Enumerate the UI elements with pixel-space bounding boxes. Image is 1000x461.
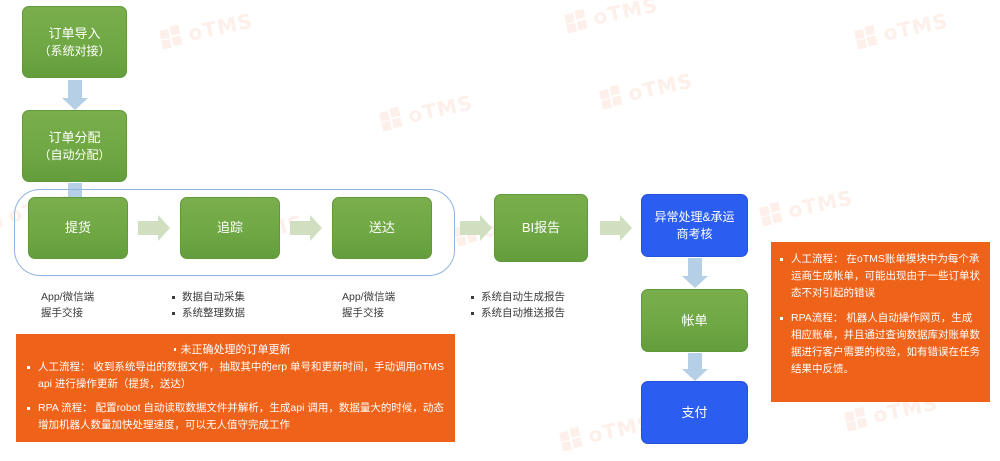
watermark: oTMS bbox=[599, 69, 696, 112]
node-bi-report[interactable]: BI报告 bbox=[494, 194, 588, 262]
callout-order-update-item-1: RPA 流程： 配置robot 自动读取数据文件并解析，生成api 调用，数据量… bbox=[26, 400, 445, 434]
node-delivery[interactable]: 送达 bbox=[332, 197, 432, 259]
node-tracking[interactable]: 追踪 bbox=[180, 197, 280, 259]
node-bi-report-label: BI报告 bbox=[522, 219, 560, 237]
flowchart-canvas: oTMS oTMS oTMS oTMS oTMS oTMS oTMS oTMS … bbox=[0, 0, 1000, 461]
otms-pinwheel-logo-icon bbox=[379, 106, 405, 132]
watermark: oTMS bbox=[564, 0, 661, 35]
otms-pinwheel-logo-icon bbox=[844, 406, 870, 432]
node-order-assign-line1: 订单分配 bbox=[38, 129, 110, 147]
otms-pinwheel-logo-icon bbox=[854, 24, 880, 50]
arrow-tracking-to-delivery bbox=[290, 212, 322, 244]
notes-pickup-line-0: App/微信端 bbox=[41, 289, 94, 305]
notes-tracking: 数据自动采集 系统整理数据 bbox=[171, 289, 245, 322]
notes-tracking-line-1: 系统整理数据 bbox=[171, 305, 245, 321]
otms-pinwheel-logo-icon bbox=[0, 206, 5, 232]
node-payment-label: 支付 bbox=[681, 404, 707, 422]
callout-billing-item-1: RPA流程： 机器人自动操作网页，生成相应账单，并且通过查询数据库对账单数据进行… bbox=[779, 310, 980, 377]
node-order-assign[interactable]: 订单分配 （自动分配） bbox=[22, 110, 127, 182]
arrow-report-to-exception bbox=[600, 212, 632, 244]
callout-order-update-item-0: 人工流程： 收到系统导出的数据文件，抽取其中的erp 单号和更新时间，手动调用o… bbox=[26, 359, 445, 393]
node-order-import[interactable]: 订单导入 （系统对接） bbox=[22, 6, 127, 78]
node-tracking-label: 追踪 bbox=[217, 219, 243, 237]
watermark-label: oTMS bbox=[591, 0, 660, 30]
notes-tracking-line-0: 数据自动采集 bbox=[171, 289, 245, 305]
arrow-bill-to-payment bbox=[680, 353, 710, 381]
notes-report-line-0: 系统自动生成报告 bbox=[470, 289, 565, 305]
watermark: oTMS bbox=[854, 9, 951, 52]
node-exception-line1: 异常处理&承运 bbox=[654, 209, 734, 225]
callout-order-update-header: 未正确处理的订单更新 bbox=[26, 341, 445, 359]
watermark-label: oTMS bbox=[786, 186, 855, 223]
otms-pinwheel-logo-icon bbox=[599, 84, 625, 110]
watermark: oTMS bbox=[159, 9, 256, 52]
notes-report-line-1: 系统自动推送报告 bbox=[470, 305, 565, 321]
node-payment[interactable]: 支付 bbox=[641, 381, 748, 444]
callout-order-update-list: 人工流程： 收到系统导出的数据文件，抽取其中的erp 单号和更新时间，手动调用o… bbox=[26, 359, 445, 434]
watermark-label: oTMS bbox=[881, 9, 950, 46]
callout-billing-item-0: 人工流程： 在oTMS账单模块中为每个承运商生成帐单，可能出现由于一些订单状态不… bbox=[779, 251, 980, 301]
node-order-import-line1: 订单导入 bbox=[38, 25, 110, 43]
watermark: oTMS bbox=[379, 91, 476, 134]
notes-report: 系统自动生成报告 系统自动推送报告 bbox=[470, 289, 565, 322]
callout-billing-list: 人工流程： 在oTMS账单模块中为每个承运商生成帐单，可能出现由于一些订单状态不… bbox=[779, 251, 980, 378]
watermark-label: oTMS bbox=[186, 9, 255, 46]
otms-pinwheel-logo-icon bbox=[564, 8, 590, 34]
node-bill[interactable]: 帐单 bbox=[641, 289, 748, 352]
watermark: oTMS bbox=[759, 186, 856, 229]
otms-pinwheel-logo-icon bbox=[159, 24, 185, 50]
arrow-import-to-assign bbox=[60, 80, 90, 110]
callout-order-update: 未正确处理的订单更新 人工流程： 收到系统导出的数据文件，抽取其中的erp 单号… bbox=[16, 334, 455, 442]
node-exception-handling[interactable]: 异常处理&承运 商考核 bbox=[641, 194, 748, 257]
callout-billing: 人工流程： 在oTMS账单模块中为每个承运商生成帐单，可能出现由于一些订单状态不… bbox=[771, 242, 990, 402]
notes-pickup: App/微信端 握手交接 bbox=[41, 289, 94, 322]
otms-pinwheel-logo-icon bbox=[759, 201, 785, 227]
notes-delivery-line-0: App/微信端 bbox=[342, 289, 395, 305]
node-delivery-label: 送达 bbox=[369, 219, 395, 237]
notes-pickup-line-1: 握手交接 bbox=[41, 305, 94, 321]
arrow-exception-to-bill bbox=[680, 258, 710, 288]
otms-pinwheel-logo-icon bbox=[559, 426, 585, 452]
node-exception-line2: 商考核 bbox=[654, 226, 734, 242]
arrow-pickup-to-tracking bbox=[138, 212, 170, 244]
watermark-label: oTMS bbox=[406, 91, 475, 128]
node-order-assign-line2: （自动分配） bbox=[38, 147, 110, 163]
node-bill-label: 帐单 bbox=[681, 312, 707, 330]
arrow-delivery-to-report bbox=[460, 212, 492, 244]
watermark-label: oTMS bbox=[626, 69, 695, 106]
notes-delivery-line-1: 握手交接 bbox=[342, 305, 395, 321]
node-pickup-label: 提货 bbox=[65, 219, 91, 237]
notes-delivery: App/微信端 握手交接 bbox=[342, 289, 395, 322]
node-order-import-line2: （系统对接） bbox=[38, 43, 110, 59]
node-pickup[interactable]: 提货 bbox=[28, 197, 128, 259]
